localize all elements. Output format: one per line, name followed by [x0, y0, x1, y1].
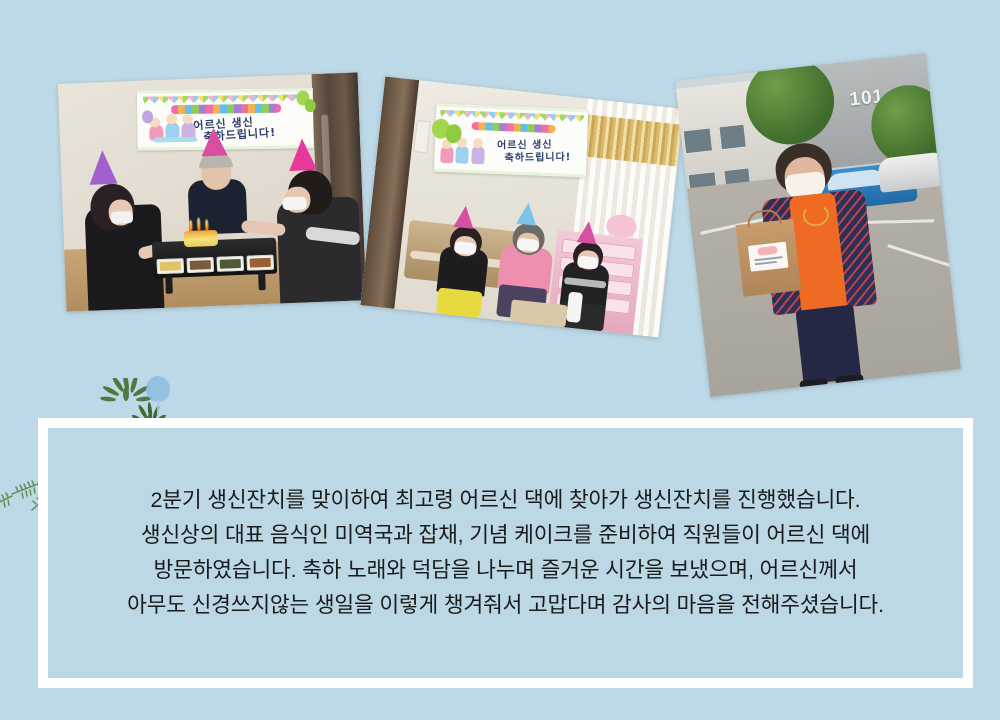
party-hat-right: [288, 138, 317, 171]
photo-elder-with-gift-bag[interactable]: 101: [675, 53, 961, 397]
banner-letter-dots: [171, 104, 281, 115]
description-line-1: 2분기 생신잔치를 맞이하여 최고령 어르신 댁에 찾아가 생신잔치를 진행했습…: [127, 483, 884, 518]
balloon-icon: [146, 376, 172, 406]
photo-group-in-room[interactable]: 어르신 생신 축하드립니다!: [360, 76, 683, 337]
description-card-inner: 2분기 생신잔치를 맞이하여 최고령 어르신 댁에 찾아가 생신잔치를 진행했습…: [48, 428, 963, 678]
banner-text-line-2: 축하드립니다!: [504, 148, 571, 164]
description-line-3: 방문하였습니다. 축하 노래와 덕담을 나누며 즐거운 시간을 보냈으며, 어르…: [127, 553, 884, 588]
party-hat: [453, 205, 475, 229]
food-dish-3: [216, 256, 244, 272]
food-dish-4: [246, 255, 274, 271]
person-right-staff: [257, 156, 366, 304]
person-staff-left: [426, 215, 498, 319]
party-hat-elder: [201, 127, 228, 156]
banner-flag-garland: [143, 94, 307, 103]
small-table: [510, 299, 568, 327]
banner-flag-garland: [440, 110, 584, 123]
food-dish-1: [157, 258, 185, 274]
party-hat: [577, 220, 599, 244]
gift-paper-bag: [736, 219, 802, 297]
party-hat-left: [88, 150, 117, 185]
birthday-cake: [183, 230, 218, 247]
poster-canvas: 어르신 생신 축하드립니다!: [0, 0, 1000, 720]
bag-label: [748, 242, 789, 272]
photo-three-scene: 101: [675, 53, 961, 397]
shoe-left: [799, 378, 828, 389]
photo-home-birthday-party[interactable]: 어르신 생신 축하드립니다!: [58, 72, 367, 311]
banner-cartoon-figures: [147, 116, 205, 143]
description-line-4: 아무도 신경쓰지않는 생일을 이렇게 챙겨줘서 고맙다며 감사의 마음을 전해주…: [127, 588, 884, 623]
food-dish-2: [187, 257, 215, 273]
photo-one-scene: 어르신 생신 축하드립니다!: [58, 72, 367, 311]
photo-two-scene: 어르신 생신 축하드립니다!: [360, 76, 683, 337]
description-card: 2분기 생신잔치를 맞이하여 최고령 어르신 댁에 찾아가 생신잔치를 진행했습…: [38, 418, 973, 688]
description-line-2: 생신상의 대표 음식인 미역국과 잡채, 기념 케이크를 준비하여 직원들이 어…: [127, 518, 884, 553]
banner-letter-dots: [472, 122, 556, 133]
trousers: [795, 305, 861, 385]
party-hat: [516, 202, 538, 226]
person-left-staff: [63, 172, 164, 312]
description-text: 2분기 생신잔치를 맞이하여 최고령 어르신 댁에 찾아가 생신잔치를 진행했습…: [101, 483, 910, 622]
shoe-right: [835, 374, 864, 385]
